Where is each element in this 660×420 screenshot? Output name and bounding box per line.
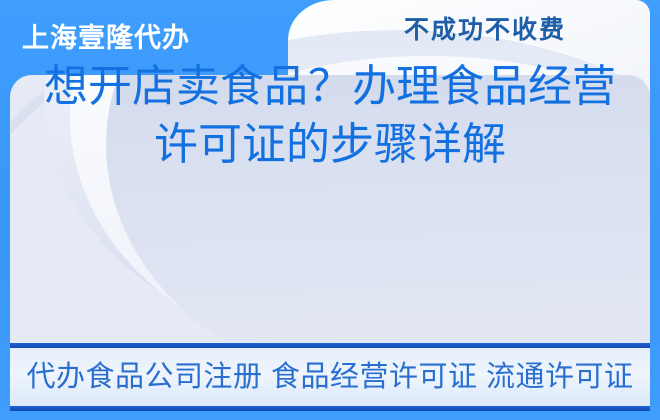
slogan-text: 不成功不收费 (330, 18, 640, 43)
brand-name: 上海壹隆代办 (22, 25, 190, 52)
promo-banner: 上海壹隆代办 不成功不收费 想开店卖食品？办理食品经营 许可证的步骤详解 代办食… (0, 0, 660, 420)
keyword-list: 代办食品公司注册 食品经营许可证 流通许可证 (26, 363, 633, 392)
headline-line-2: 许可证的步骤详解 (0, 116, 660, 174)
keyword-bar: 代办食品公司注册 食品经营许可证 流通许可证 (10, 348, 650, 406)
bottom-blue-strip (0, 411, 660, 420)
headline-line-1: 想开店卖食品？办理食品经营 (0, 58, 660, 116)
headline: 想开店卖食品？办理食品经营 许可证的步骤详解 (0, 58, 660, 174)
